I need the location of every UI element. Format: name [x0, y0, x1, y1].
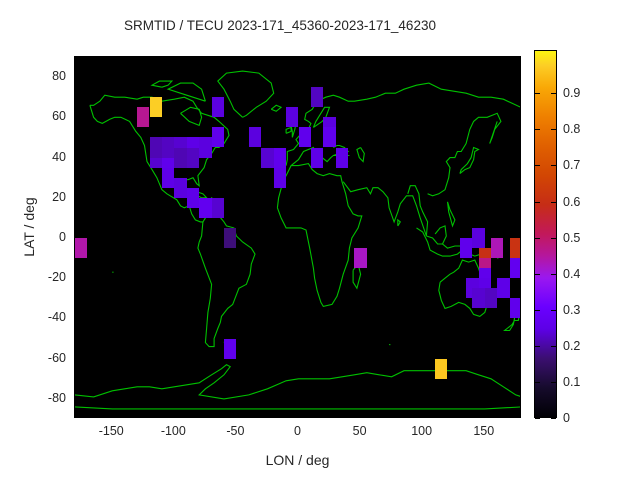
coastline-path: [505, 308, 520, 330]
x-tick-label: -150: [99, 424, 124, 438]
colorbar-tick-label: 0.5: [563, 231, 580, 245]
colorbar-tick-mark: [551, 274, 556, 275]
colorbar-tick-mark: [535, 346, 540, 347]
colorbar-tick-mark: [535, 310, 540, 311]
colorbar-tick-label: 0.1: [563, 375, 580, 389]
x-tick-label: 0: [294, 424, 301, 438]
y-axis-label: LAT / deg: [21, 172, 37, 282]
coastline-path: [353, 264, 361, 288]
y-tick-label: -40: [30, 310, 66, 324]
colorbar-tick-mark: [551, 418, 556, 419]
colorbar-tick-label: 0.8: [563, 122, 580, 136]
colorbar-tick-mark: [535, 382, 540, 383]
coastline-path: [90, 95, 229, 186]
x-tick-label: 100: [411, 424, 432, 438]
coastline-path: [291, 121, 296, 137]
colorbar-tick-label: 0.6: [563, 195, 580, 209]
colorbar-tick-mark: [535, 202, 540, 203]
coastline-path: [398, 220, 401, 226]
coastline-path: [194, 192, 206, 198]
colorbar-tick-mark: [535, 165, 540, 166]
x-axis-label: LON / deg: [74, 452, 521, 468]
coastline-path: [357, 148, 364, 162]
coastline-path: [291, 146, 348, 166]
colorbar-gradient: [535, 51, 556, 417]
coastline-path: [439, 260, 489, 316]
y-tick-label: -60: [30, 351, 66, 365]
colorbar-tick-label: 0.7: [563, 158, 580, 172]
coastline-path: [209, 198, 214, 202]
coastline-path: [313, 107, 329, 127]
colorbar-tick-mark: [535, 129, 540, 130]
colorbar-tick-label: 0.3: [563, 303, 580, 317]
colorbar-tick-mark: [551, 165, 556, 166]
coastline-path: [198, 214, 255, 347]
colorbar-tick-label: 0.9: [563, 86, 580, 100]
colorbar-tick-label: 0: [563, 411, 570, 425]
y-tick-label: 60: [30, 109, 66, 123]
coastline-path: [218, 71, 274, 117]
coastline-overlay: [75, 57, 521, 418]
coastline-path: [90, 105, 203, 222]
colorbar-tick-mark: [535, 274, 540, 275]
page-title: SRMTID / TECU 2023-171_45360-2023-171_46…: [0, 18, 560, 33]
coastline-path: [286, 127, 291, 133]
colorbar-tick-mark: [551, 346, 556, 347]
coastline-path: [152, 81, 172, 87]
colorbar-tick-mark: [535, 418, 540, 419]
coastline-path: [343, 182, 427, 236]
colorbar-tick-label: 0.2: [563, 339, 580, 353]
colorbar-tick-mark: [551, 93, 556, 94]
coastline-path: [435, 226, 446, 244]
colorbar-tick-mark: [535, 93, 540, 94]
colorbar-tick-mark: [551, 202, 556, 203]
coastline-path: [448, 202, 455, 226]
coastline-path: [286, 83, 521, 166]
coastline-path: [75, 407, 521, 409]
x-tick-label: -50: [226, 424, 244, 438]
colorbar-tick-mark: [551, 238, 556, 239]
coastline-path: [277, 164, 361, 307]
y-tick-label: 80: [30, 69, 66, 83]
coastline-path: [271, 105, 281, 111]
y-tick-label: 40: [30, 150, 66, 164]
colorbar-tick-mark: [535, 238, 540, 239]
coastline-path: [460, 148, 479, 174]
x-tick-label: 150: [473, 424, 494, 438]
colorbar-tick-mark: [551, 382, 556, 383]
coastline-path: [224, 341, 227, 343]
coastline-path: [75, 365, 521, 399]
y-tick-label: -80: [30, 391, 66, 405]
figure-canvas: SRMTID / TECU 2023-171_45360-2023-171_46…: [0, 0, 640, 480]
x-tick-label: -100: [161, 424, 186, 438]
coastline-path: [428, 113, 501, 196]
coastline-path: [333, 154, 349, 156]
colorbar-tick-mark: [551, 129, 556, 130]
x-tick-label: 50: [353, 424, 367, 438]
map-plot-area[interactable]: [74, 56, 521, 418]
coastline-path: [492, 254, 495, 256]
colorbar-tick-label: 0.4: [563, 267, 580, 281]
colorbar-tick-mark: [551, 310, 556, 311]
colorbar[interactable]: [534, 50, 557, 418]
